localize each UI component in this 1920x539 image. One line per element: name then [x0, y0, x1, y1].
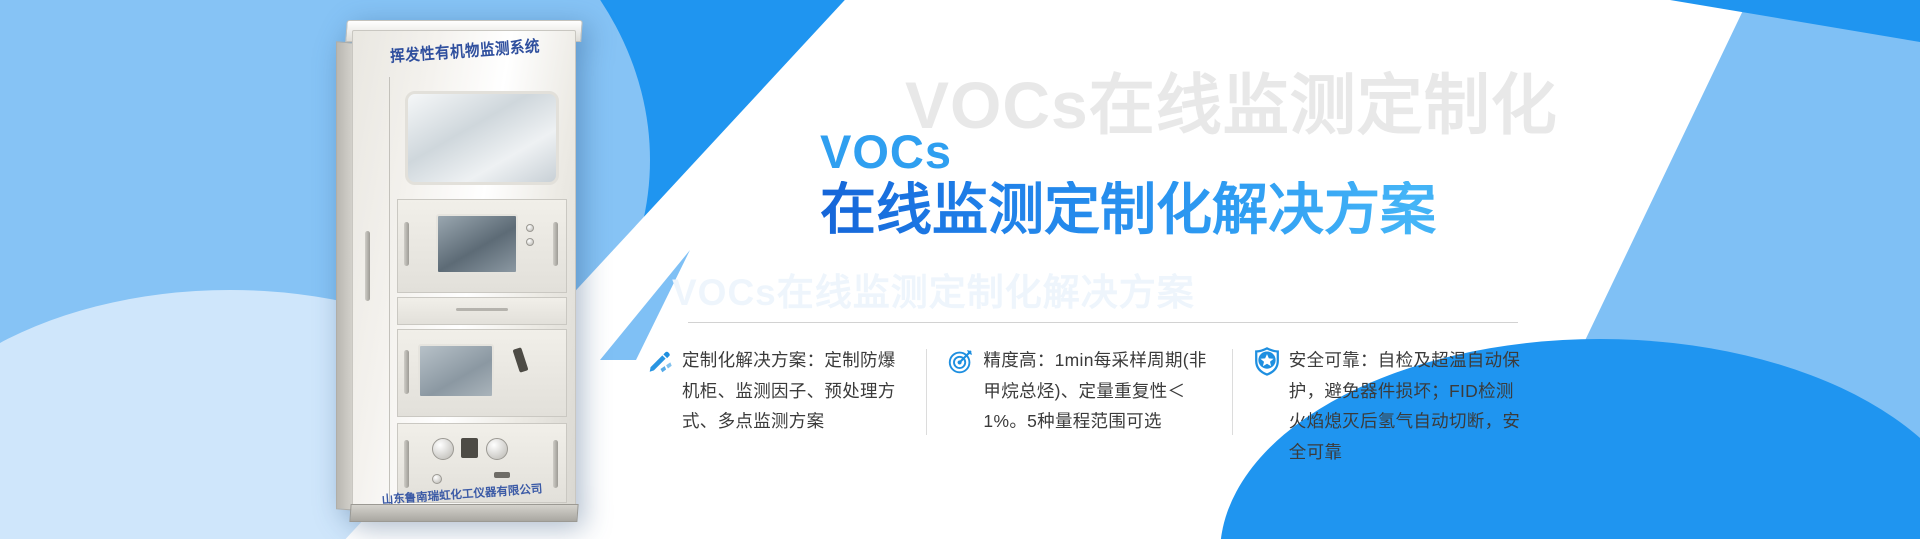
tools-pen-icon — [645, 346, 675, 376]
cabinet-indicator-1 — [526, 224, 534, 232]
feature-item-safety: 安全可靠：自检及超温自动保护，避免器件损坏；FID检测火焰熄灭后氢气自动切断，安… — [1232, 345, 1545, 468]
cabinet-control-switch — [461, 438, 478, 458]
vocs-promo-banner: VOCs在线监测定制化 VOCs在线监测定制化解决方案 — [0, 0, 1920, 539]
feature-text-accuracy: 精度高：1min每采样周期(非甲烷总烃)、定量重复性＜1%。5种量程范围可选 — [983, 345, 1213, 437]
feature-text-customization: 定制化解决方案：定制防爆机柜、监测因子、预处理方式、多点监测方案 — [682, 345, 908, 437]
cabinet-vent-slot — [456, 308, 508, 311]
feature-item-accuracy: 精度高：1min每采样周期(非甲烷总烃)、定量重复性＜1%。5种量程范围可选 — [926, 345, 1231, 437]
feature-item-customization: 定制化解决方案：定制防爆机柜、监测因子、预处理方式、多点监测方案 — [645, 345, 926, 437]
feature-separator-1 — [926, 349, 927, 435]
cabinet-gauge-1 — [432, 438, 454, 460]
headline-divider — [688, 322, 1518, 323]
cabinet-door-seam — [389, 77, 390, 507]
cabinet-door-handle — [365, 231, 370, 301]
feature-separator-2 — [1232, 349, 1233, 435]
cabinet-instrument-panel-2 — [397, 297, 567, 325]
product-cabinet-image: 挥发性有机物监测系统 山东鲁南瑞虹化工仪器有限公司 — [330, 12, 598, 524]
headline-main: 在线监测定制化解决方案 — [820, 181, 1560, 240]
cabinet-display-2 — [418, 344, 494, 398]
headline-block: VOCs 在线监测定制化解决方案 — [820, 128, 1560, 240]
headline-eyebrow: VOCs — [820, 128, 1560, 175]
cabinet-view-window — [405, 91, 559, 185]
feature-list: 定制化解决方案：定制防爆机柜、监测因子、预处理方式、多点监测方案 精度高：1mi… — [645, 345, 1545, 468]
cabinet-rack-handle-1a — [404, 222, 409, 266]
cabinet-base-plinth — [349, 504, 578, 522]
target-accuracy-icon — [946, 346, 976, 376]
cabinet-instrument-panel-3 — [397, 329, 567, 417]
cabinet-button — [432, 474, 442, 484]
cabinet-rack-handle-2a — [404, 350, 409, 394]
cabinet-valve-lever — [513, 347, 529, 373]
cabinet-indicator-2 — [526, 238, 534, 246]
cabinet-display-1 — [436, 214, 518, 274]
cabinet-rack-handle-1b — [553, 222, 558, 266]
cabinet-rack-handle-3a — [404, 440, 409, 488]
cabinet-label-plate — [494, 472, 510, 478]
cabinet-body — [352, 30, 576, 514]
shield-star-icon — [1252, 346, 1282, 376]
cabinet-instrument-panel-1 — [397, 199, 567, 293]
watermark-bottom: VOCs在线监测定制化解决方案 — [672, 262, 1195, 316]
cabinet-gauge-2 — [486, 438, 508, 460]
feature-text-safety: 安全可靠：自检及超温自动保护，避免器件损坏；FID检测火焰熄灭后氢气自动切断，安… — [1289, 345, 1527, 468]
